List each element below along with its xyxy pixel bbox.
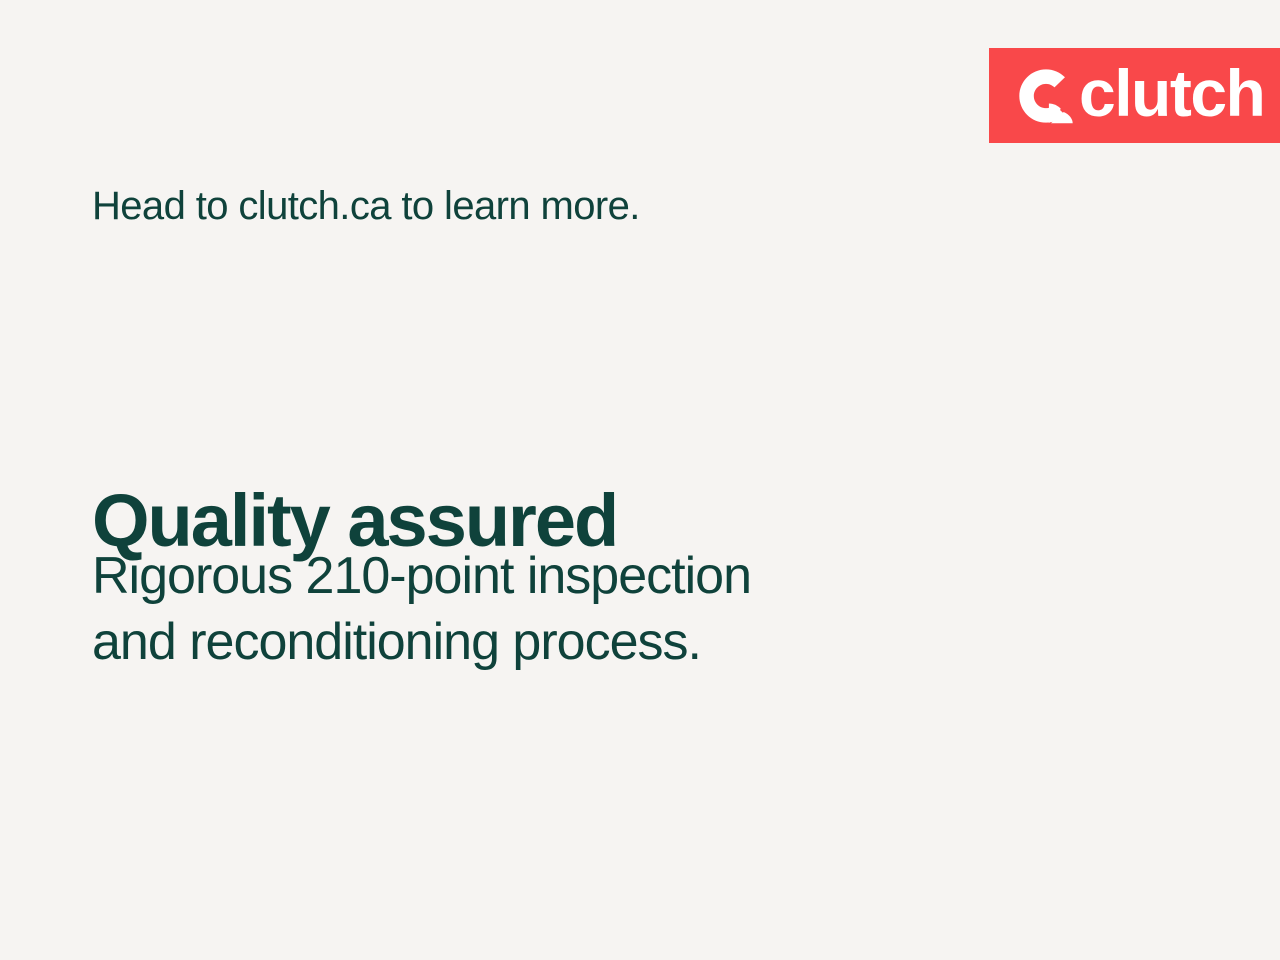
subcopy-block: Rigorous 210-point inspection and recond… — [92, 544, 992, 675]
subcopy-line-1: Rigorous 210-point inspection — [92, 544, 992, 610]
clutch-c-wheel-icon — [1017, 67, 1075, 125]
clutch-wordmark: clutch — [1017, 63, 1264, 129]
cta-eyebrow-text: Head to clutch.ca to learn more. — [92, 182, 640, 230]
subcopy-line-2: and reconditioning process. — [92, 610, 992, 676]
promo-slide: clutch Head to clutch.ca to learn more. … — [0, 0, 1280, 960]
clutch-brand-banner[interactable]: clutch — [989, 48, 1280, 143]
clutch-wordmark-text: clutch — [1079, 60, 1264, 126]
